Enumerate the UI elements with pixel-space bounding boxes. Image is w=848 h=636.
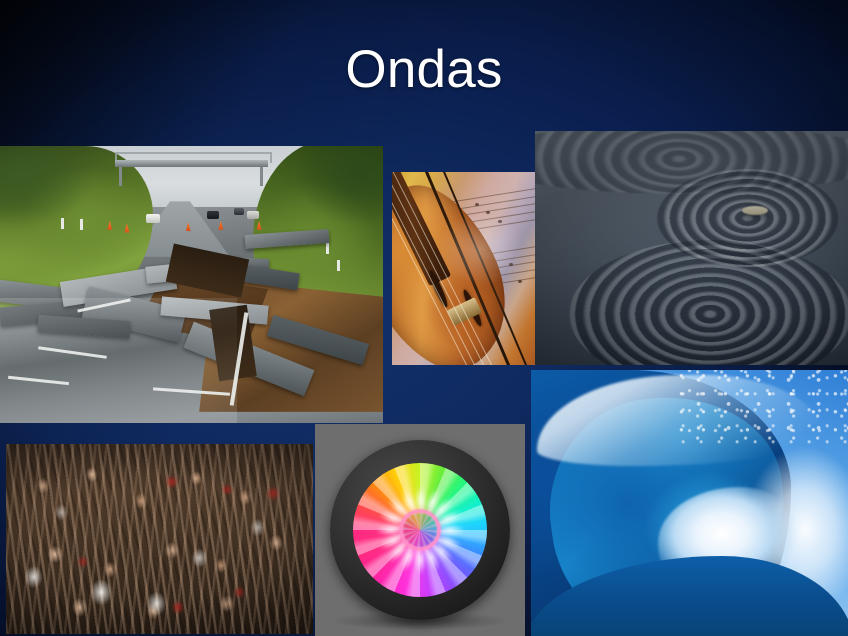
ocean-wave-content (531, 370, 848, 636)
violin-content (392, 172, 535, 365)
eq-wet-reflection (0, 298, 237, 423)
eq-guide-post (61, 218, 64, 229)
vl-highlight (392, 172, 535, 365)
image-stadium-crowd (6, 444, 313, 634)
eq-overpass-deck (115, 160, 268, 167)
eq-car (247, 211, 259, 219)
image-earthquake-road (0, 146, 383, 423)
water-ripples-content (535, 131, 848, 365)
eq-guide-post (337, 260, 340, 271)
image-water-ripples (535, 131, 848, 365)
stadium-crowd-content (6, 444, 313, 634)
slide-title: Ondas (0, 42, 848, 98)
led-color-wheel-content (315, 424, 525, 636)
image-violin-sheet-music (392, 172, 535, 365)
eq-guide-post (80, 219, 83, 230)
wv-spray (677, 370, 848, 444)
eq-overpass-pillar (119, 167, 122, 186)
eq-car (207, 211, 219, 219)
led-outer-ring (330, 440, 510, 620)
image-led-color-wheel (315, 424, 525, 636)
led-center-ring (399, 509, 441, 551)
presentation-slide: Ondas (0, 0, 848, 636)
led-spectrum-disc (353, 463, 487, 597)
eq-guide-post (326, 243, 329, 254)
eq-car (234, 208, 244, 215)
eq-car (146, 214, 160, 223)
image-ocean-wave (531, 370, 848, 636)
rp-shading (535, 131, 848, 365)
eq-overpass-pillar (260, 167, 263, 186)
earthquake-road-content (0, 146, 383, 423)
cr-vignette (6, 444, 313, 634)
